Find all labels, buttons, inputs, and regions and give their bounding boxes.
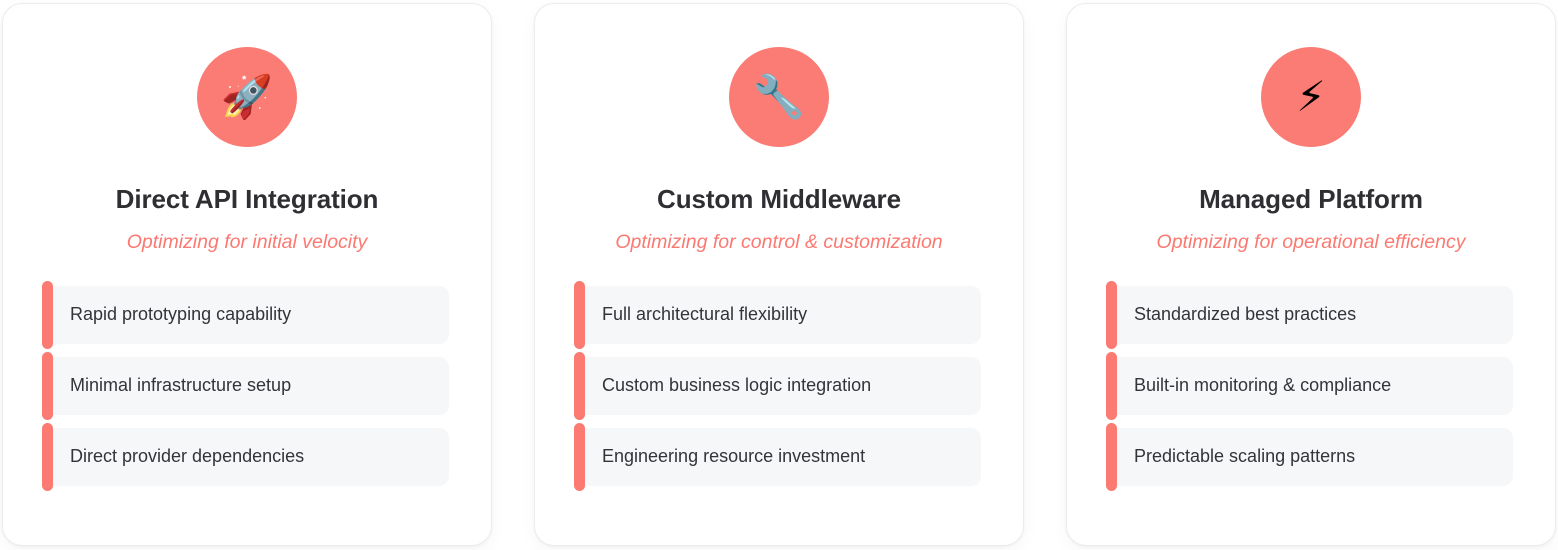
list-item: Direct provider dependencies — [45, 428, 449, 486]
card-point-list: Standardized best practices Built-in mon… — [1109, 286, 1513, 486]
accent-bar-icon — [574, 281, 585, 349]
list-item-label: Predictable scaling patterns — [1134, 446, 1355, 468]
card-point-list: Rapid prototyping capability Minimal inf… — [45, 286, 449, 486]
accent-bar-icon — [574, 352, 585, 420]
card-subtitle: Optimizing for initial velocity — [127, 231, 368, 254]
card-subtitle: Optimizing for control & customization — [615, 231, 942, 254]
option-card-custom-middleware[interactable]: 🔧 Custom Middleware Optimizing for contr… — [534, 3, 1024, 546]
list-item-label: Built-in monitoring & compliance — [1134, 375, 1391, 397]
card-title: Managed Platform — [1199, 185, 1423, 215]
option-card-managed-platform[interactable]: ⚡ Managed Platform Optimizing for operat… — [1066, 3, 1556, 546]
accent-bar-icon — [42, 281, 53, 349]
card-point-list: Full architectural flexibility Custom bu… — [577, 286, 981, 486]
card-subtitle: Optimizing for operational efficiency — [1157, 231, 1466, 254]
lightning-bolt-icon: ⚡ — [1296, 76, 1326, 118]
list-item: Minimal infrastructure setup — [45, 357, 449, 415]
accent-bar-icon — [1106, 281, 1117, 349]
accent-bar-icon — [42, 423, 53, 491]
list-item: Built-in monitoring & compliance — [1109, 357, 1513, 415]
list-item-label: Standardized best practices — [1134, 304, 1356, 326]
list-item: Custom business logic integration — [577, 357, 981, 415]
card-title: Direct API Integration — [116, 185, 379, 215]
accent-bar-icon — [42, 352, 53, 420]
list-item-label: Rapid prototyping capability — [70, 304, 291, 326]
card-icon-badge: ⚡ — [1261, 47, 1361, 147]
list-item-label: Custom business logic integration — [602, 375, 871, 397]
comparison-card-row: 🚀 Direct API Integration Optimizing for … — [0, 0, 1558, 550]
wrench-icon: 🔧 — [753, 76, 805, 118]
list-item-label: Full architectural flexibility — [602, 304, 807, 326]
rocket-icon: 🚀 — [221, 76, 273, 118]
list-item-label: Direct provider dependencies — [70, 446, 304, 468]
accent-bar-icon — [574, 423, 585, 491]
list-item: Full architectural flexibility — [577, 286, 981, 344]
accent-bar-icon — [1106, 423, 1117, 491]
accent-bar-icon — [1106, 352, 1117, 420]
card-icon-badge: 🚀 — [197, 47, 297, 147]
list-item-label: Engineering resource investment — [602, 446, 865, 468]
card-icon-badge: 🔧 — [729, 47, 829, 147]
list-item: Standardized best practices — [1109, 286, 1513, 344]
list-item-label: Minimal infrastructure setup — [70, 375, 291, 397]
option-card-direct-api-integration[interactable]: 🚀 Direct API Integration Optimizing for … — [2, 3, 492, 546]
list-item: Engineering resource investment — [577, 428, 981, 486]
list-item: Rapid prototyping capability — [45, 286, 449, 344]
list-item: Predictable scaling patterns — [1109, 428, 1513, 486]
card-title: Custom Middleware — [657, 185, 901, 215]
